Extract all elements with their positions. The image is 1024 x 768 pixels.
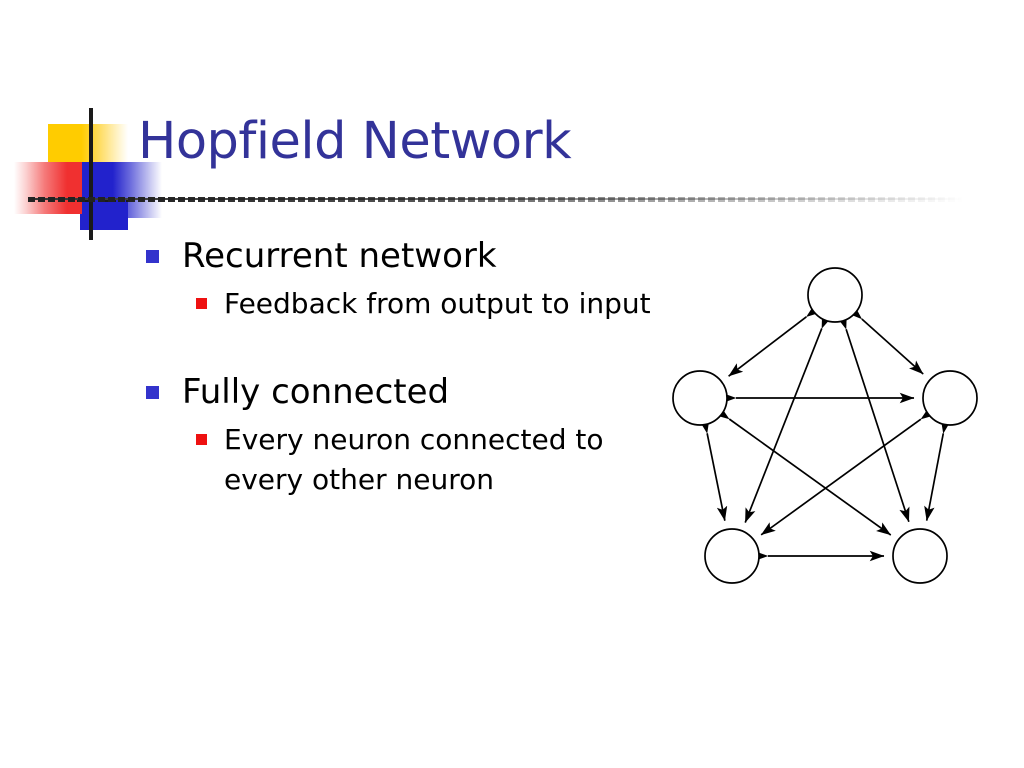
red-square-bullet-icon	[196, 434, 207, 445]
logo-vertical-line-icon	[89, 108, 93, 240]
network-node	[808, 268, 862, 322]
slide-canvas: Hopfield Network Recurrent network Feedb…	[0, 0, 1024, 768]
network-node	[893, 529, 947, 583]
bullet-level2-item: Feedback from output to input	[140, 284, 660, 324]
title-separator-dots	[28, 197, 963, 202]
network-edge	[745, 328, 822, 522]
title-separator-rule	[28, 197, 963, 202]
bullet-level2-label: Feedback from output to input	[224, 287, 651, 320]
network-edge	[761, 419, 921, 535]
bullet-level1-item: Fully connected	[140, 372, 660, 412]
network-node	[673, 371, 727, 425]
slide-body-list: Recurrent network Feedback from output t…	[140, 236, 660, 500]
logo-blue-square-lower-icon	[80, 200, 128, 230]
logo-red-square-icon	[14, 162, 82, 214]
hopfield-network-diagram	[650, 248, 1010, 608]
network-edge	[707, 433, 725, 520]
blue-square-bullet-icon	[146, 386, 159, 399]
network-edge	[846, 329, 909, 522]
network-node	[705, 529, 759, 583]
network-edge	[927, 433, 944, 520]
network-node-layer	[673, 268, 977, 583]
slide-title: Hopfield Network	[138, 112, 571, 172]
network-node	[923, 371, 977, 425]
bullet-level1-label: Fully connected	[182, 372, 449, 412]
network-edge	[729, 419, 891, 535]
bullet-level2-label: Every neuron connected to every other ne…	[224, 423, 604, 496]
blue-square-bullet-icon	[146, 250, 159, 263]
red-square-bullet-icon	[196, 298, 207, 309]
network-graph-svg	[650, 248, 1010, 608]
bullet-group-spacer	[140, 324, 660, 372]
network-edge	[862, 319, 923, 374]
network-edge	[729, 317, 807, 376]
bullet-level1-label: Recurrent network	[182, 236, 497, 276]
bullet-level2-item: Every neuron connected to every other ne…	[140, 420, 660, 500]
network-edge-layer	[707, 317, 943, 556]
bullet-level1-item: Recurrent network	[140, 236, 660, 276]
